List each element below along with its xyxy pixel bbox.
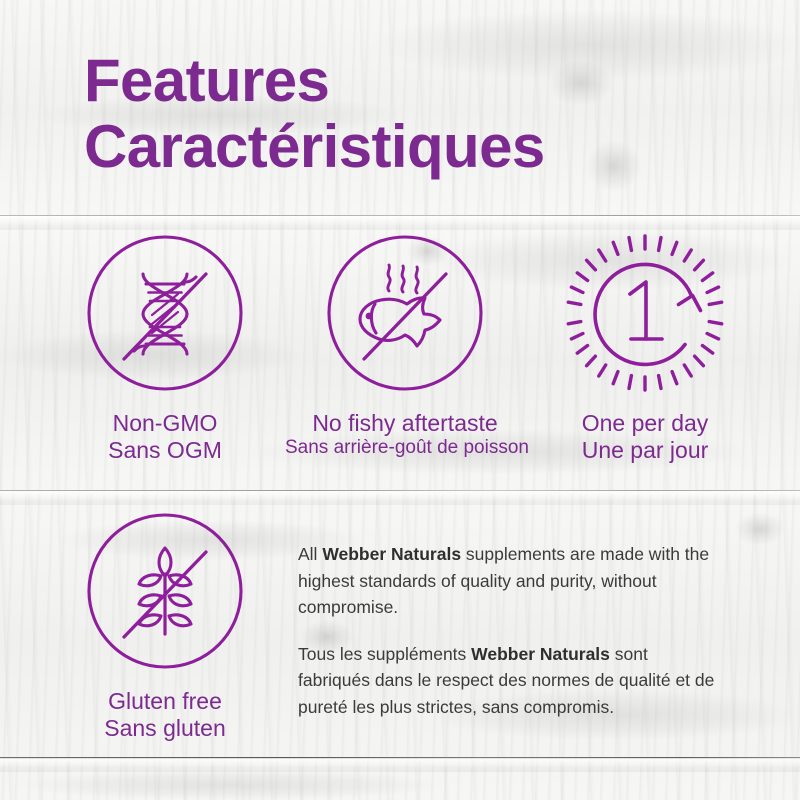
- feature-caption: Gluten free Sans gluten: [45, 688, 285, 742]
- no-gmo-dna-icon: [86, 234, 244, 392]
- feature-label-fr: Une par jour: [525, 437, 765, 464]
- feature-label-en: Non-GMO: [45, 410, 285, 437]
- brand-name-fr: Webber Naturals: [471, 644, 610, 664]
- feature-label-en: Gluten free: [45, 688, 285, 715]
- feature-caption: No fishy aftertaste Sans arrière-goût de…: [285, 410, 525, 460]
- body-paragraph-en: All Webber Naturals supplements are made…: [298, 541, 718, 621]
- feature-graphic: Features Caractéristiques: [0, 0, 800, 800]
- page-title-fr: Caractéristiques: [84, 114, 744, 180]
- feature-one-per-day: One per day Une par jour: [525, 234, 765, 464]
- feature-no-fishy-aftertaste: No fishy aftertaste Sans arrière-goût de…: [285, 234, 525, 460]
- brand-name-en: Webber Naturals: [322, 544, 461, 564]
- body-en-before: All: [298, 544, 322, 564]
- body-fr-before: Tous les suppléments: [298, 644, 471, 664]
- feature-label-fr: Sans OGM: [45, 437, 285, 464]
- feature-non-gmo: Non-GMO Sans OGM: [45, 234, 285, 464]
- gluten-free-wheat-icon: [86, 512, 244, 670]
- page-title-en: Features: [84, 48, 744, 114]
- feature-label-en: One per day: [525, 410, 765, 437]
- one-per-day-circular-arrow-icon: [566, 234, 724, 392]
- body-paragraph-fr: Tous les suppléments Webber Naturals son…: [298, 641, 718, 721]
- feature-label-fr: Sans arrière-goût de poisson: [285, 437, 525, 459]
- body-copy: All Webber Naturals supplements are made…: [298, 541, 718, 720]
- feature-caption: Non-GMO Sans OGM: [45, 410, 285, 464]
- feature-label-en: No fishy aftertaste: [285, 410, 525, 437]
- feature-caption: One per day Une par jour: [525, 410, 765, 464]
- no-fishy-aftertaste-fish-icon: [326, 234, 484, 392]
- feature-label-fr: Sans gluten: [45, 715, 285, 742]
- feature-gluten-free: Gluten free Sans gluten: [45, 512, 285, 742]
- page-title: Features Caractéristiques: [84, 48, 744, 180]
